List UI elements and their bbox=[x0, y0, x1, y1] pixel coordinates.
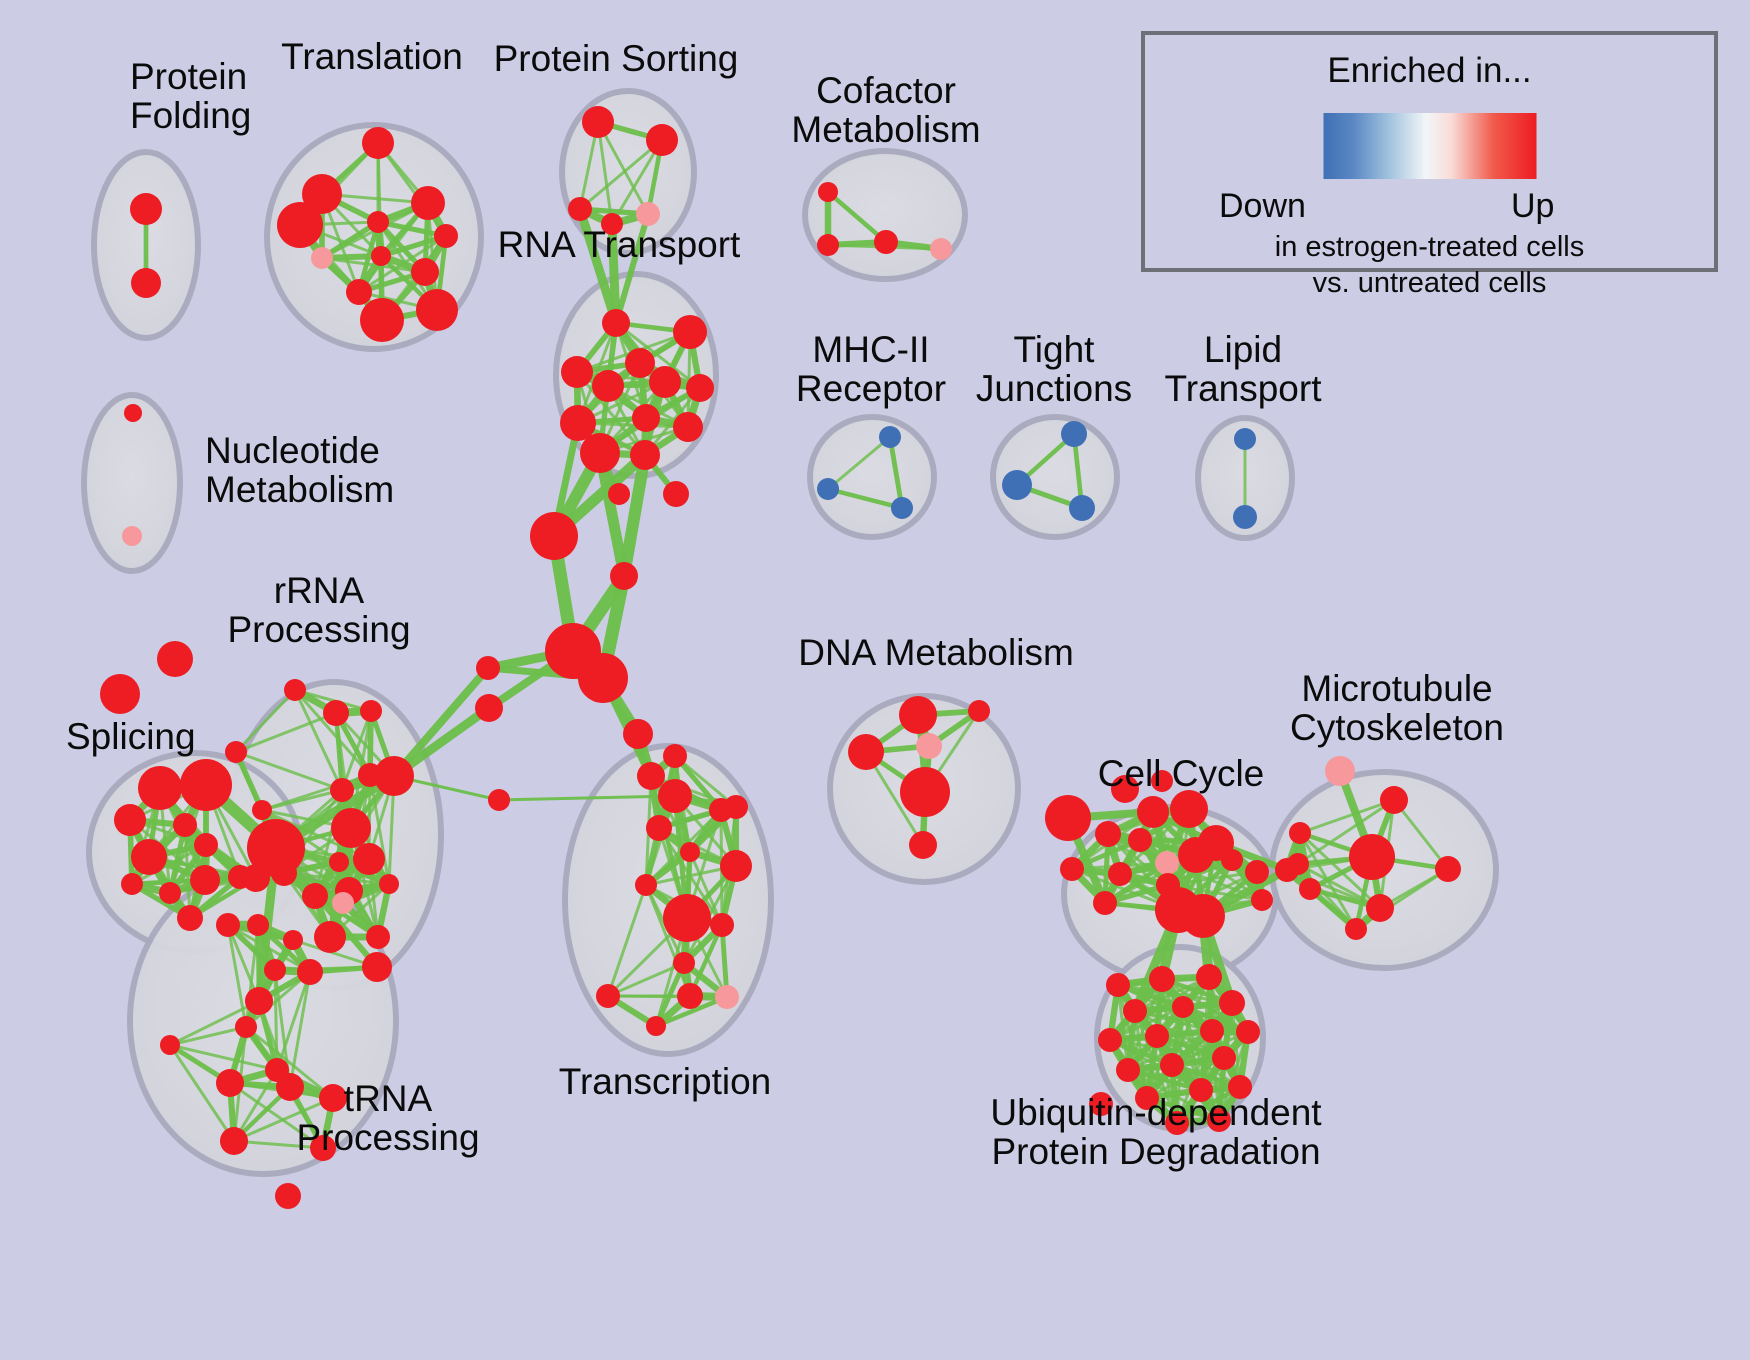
network-node[interactable] bbox=[724, 795, 748, 819]
legend-color-bar bbox=[1323, 113, 1536, 179]
network-node[interactable] bbox=[1200, 1019, 1224, 1043]
cluster-label-splicing: Splicing bbox=[66, 718, 196, 757]
network-node[interactable] bbox=[242, 864, 270, 892]
network-figure: Protein FoldingTranslationNucleotide Met… bbox=[0, 0, 1750, 1360]
network-node[interactable] bbox=[252, 800, 272, 820]
network-node[interactable] bbox=[673, 315, 707, 349]
network-node[interactable] bbox=[1069, 495, 1095, 521]
network-node[interactable] bbox=[1093, 891, 1117, 915]
network-node[interactable] bbox=[1245, 860, 1269, 884]
network-node[interactable] bbox=[630, 440, 660, 470]
network-node[interactable] bbox=[159, 882, 181, 904]
network-node[interactable] bbox=[646, 124, 678, 156]
network-node[interactable] bbox=[916, 733, 942, 759]
network-node[interactable] bbox=[194, 833, 218, 857]
network-node[interactable] bbox=[1181, 894, 1225, 938]
network-node[interactable] bbox=[225, 741, 247, 763]
network-node[interactable] bbox=[265, 1058, 289, 1082]
network-node[interactable] bbox=[592, 370, 624, 402]
network-node[interactable] bbox=[173, 813, 197, 837]
network-node[interactable] bbox=[663, 744, 687, 768]
network-node[interactable] bbox=[1045, 795, 1091, 841]
network-node[interactable] bbox=[1178, 837, 1214, 873]
network-node[interactable] bbox=[1160, 1053, 1184, 1077]
network-node[interactable] bbox=[848, 734, 884, 770]
legend-low-label: Down bbox=[1219, 187, 1306, 226]
network-node[interactable] bbox=[578, 653, 628, 703]
network-node[interactable] bbox=[190, 865, 220, 895]
network-node[interactable] bbox=[1236, 1020, 1260, 1044]
network-node[interactable] bbox=[663, 894, 711, 942]
network-node[interactable] bbox=[1170, 790, 1208, 828]
network-node[interactable] bbox=[346, 279, 372, 305]
network-node[interactable] bbox=[879, 426, 901, 448]
network-node[interactable] bbox=[1145, 1024, 1169, 1048]
network-node[interactable] bbox=[360, 700, 382, 722]
legend-panel: Enriched in... Down Up in estrogen-treat… bbox=[1141, 31, 1718, 272]
network-node[interactable] bbox=[710, 913, 734, 937]
cluster-label-rrna-processing: rRNA Processing bbox=[227, 572, 410, 650]
network-node[interactable] bbox=[1123, 999, 1147, 1023]
network-node[interactable] bbox=[1299, 878, 1321, 900]
network-node[interactable] bbox=[1106, 973, 1130, 997]
cluster-label-microtubule-cytoskeleton: Microtubule Cytoskeleton bbox=[1290, 670, 1504, 748]
network-node[interactable] bbox=[637, 762, 665, 790]
network-node[interactable] bbox=[177, 905, 203, 931]
network-node[interactable] bbox=[130, 193, 162, 225]
network-node[interactable] bbox=[275, 1183, 301, 1209]
cluster-label-mhc-ii-receptor: MHC-II Receptor bbox=[796, 331, 946, 409]
network-node[interactable] bbox=[1345, 918, 1367, 940]
network-node[interactable] bbox=[891, 497, 913, 519]
legend-title: Enriched in... bbox=[1145, 51, 1714, 91]
network-node[interactable] bbox=[371, 246, 391, 266]
network-node[interactable] bbox=[1234, 428, 1256, 450]
network-node[interactable] bbox=[157, 641, 193, 677]
network-node[interactable] bbox=[625, 348, 655, 378]
legend-high-label: Up bbox=[1511, 187, 1554, 226]
network-node[interactable] bbox=[680, 842, 700, 862]
network-node[interactable] bbox=[283, 930, 303, 950]
network-node[interactable] bbox=[411, 258, 439, 286]
cluster-ellipse-mhc-ii-receptor bbox=[810, 417, 934, 537]
network-node[interactable] bbox=[1060, 857, 1084, 881]
network-node[interactable] bbox=[602, 309, 630, 337]
network-node[interactable] bbox=[122, 526, 142, 546]
network-node[interactable] bbox=[264, 959, 286, 981]
network-node[interactable] bbox=[1108, 862, 1132, 886]
legend-subtitle-line1: in estrogen-treated cells bbox=[1145, 231, 1714, 264]
network-node[interactable] bbox=[277, 202, 323, 248]
network-node[interactable] bbox=[235, 1016, 257, 1038]
network-node[interactable] bbox=[1325, 756, 1355, 786]
network-node[interactable] bbox=[476, 656, 500, 680]
network-node[interactable] bbox=[580, 433, 620, 473]
network-node[interactable] bbox=[1233, 505, 1257, 529]
network-node[interactable] bbox=[1095, 821, 1121, 847]
cluster-label-nucleotide-metabolism: Nucleotide Metabolism bbox=[205, 432, 394, 510]
network-node[interactable] bbox=[1435, 856, 1461, 882]
network-node[interactable] bbox=[1116, 1058, 1140, 1082]
network-node[interactable] bbox=[434, 224, 458, 248]
network-node[interactable] bbox=[673, 952, 695, 974]
legend-subtitle-line2: vs. untreated cells bbox=[1145, 267, 1714, 300]
network-node[interactable] bbox=[180, 759, 232, 811]
cluster-label-dna-metabolism: DNA Metabolism bbox=[798, 634, 1074, 673]
network-node[interactable] bbox=[1098, 1028, 1122, 1052]
network-node[interactable] bbox=[632, 404, 660, 432]
network-node[interactable] bbox=[362, 952, 392, 982]
network-node[interactable] bbox=[1251, 889, 1273, 911]
network-node[interactable] bbox=[366, 925, 390, 949]
network-node[interactable] bbox=[297, 959, 323, 985]
network-node[interactable] bbox=[623, 719, 653, 749]
network-node[interactable] bbox=[968, 700, 990, 722]
network-node[interactable] bbox=[1349, 834, 1395, 880]
network-node[interactable] bbox=[329, 852, 349, 872]
cluster-label-protein-folding: Protein Folding bbox=[130, 58, 251, 136]
network-node[interactable] bbox=[302, 883, 328, 909]
network-node[interactable] bbox=[561, 356, 593, 388]
network-node[interactable] bbox=[1061, 421, 1087, 447]
network-node[interactable] bbox=[1380, 786, 1408, 814]
network-node[interactable] bbox=[411, 186, 445, 220]
network-node[interactable] bbox=[1219, 990, 1245, 1016]
cluster-label-cell-cycle: Cell Cycle bbox=[1098, 755, 1265, 794]
network-node[interactable] bbox=[247, 914, 269, 936]
network-node[interactable] bbox=[930, 238, 952, 260]
network-node[interactable] bbox=[360, 298, 404, 342]
network-node[interactable] bbox=[1287, 853, 1309, 875]
network-node[interactable] bbox=[138, 766, 182, 810]
network-node[interactable] bbox=[332, 892, 354, 914]
network-node[interactable] bbox=[900, 767, 950, 817]
network-node[interactable] bbox=[817, 478, 839, 500]
network-node[interactable] bbox=[367, 211, 389, 233]
network-node[interactable] bbox=[720, 850, 752, 882]
network-node[interactable] bbox=[596, 984, 620, 1008]
network-node[interactable] bbox=[1289, 822, 1311, 844]
network-node[interactable] bbox=[216, 913, 240, 937]
cluster-label-protein-sorting: Protein Sorting bbox=[494, 40, 739, 79]
cluster-label-trna-processing: tRNA Processing bbox=[296, 1080, 479, 1158]
cluster-label-lipid-transport: Lipid Transport bbox=[1165, 331, 1322, 409]
network-node[interactable] bbox=[121, 873, 143, 895]
network-node[interactable] bbox=[330, 778, 354, 802]
network-node[interactable] bbox=[1366, 894, 1394, 922]
network-node[interactable] bbox=[610, 562, 638, 590]
network-node[interactable] bbox=[817, 234, 839, 256]
cluster-label-ubiquitin-protein-degradation: Ubiquitin-dependent Protein Degradation bbox=[990, 1094, 1321, 1172]
network-node[interactable] bbox=[715, 985, 739, 1009]
network-node[interactable] bbox=[646, 815, 672, 841]
network-node[interactable] bbox=[530, 512, 578, 560]
network-node[interactable] bbox=[1172, 996, 1194, 1018]
network-node[interactable] bbox=[646, 1016, 666, 1036]
cluster-label-cofactor-metabolism: Cofactor Metabolism bbox=[791, 72, 980, 150]
network-node[interactable] bbox=[899, 696, 937, 734]
network-node[interactable] bbox=[874, 230, 898, 254]
network-node[interactable] bbox=[1196, 964, 1222, 990]
network-node[interactable] bbox=[311, 247, 333, 269]
network-node[interactable] bbox=[131, 268, 161, 298]
cluster-label-translation: Translation bbox=[281, 38, 463, 77]
network-node[interactable] bbox=[582, 106, 614, 138]
network-node[interactable] bbox=[677, 983, 703, 1009]
network-node[interactable] bbox=[635, 874, 657, 896]
cluster-label-transcription: Transcription bbox=[559, 1063, 771, 1102]
network-node[interactable] bbox=[160, 1035, 180, 1055]
network-node[interactable] bbox=[649, 366, 681, 398]
network-node[interactable] bbox=[362, 127, 394, 159]
network-node[interactable] bbox=[100, 674, 140, 714]
network-node[interactable] bbox=[488, 789, 510, 811]
cluster-label-tight-junctions: Tight Junctions bbox=[976, 331, 1132, 409]
network-node[interactable] bbox=[818, 182, 838, 202]
network-node[interactable] bbox=[1128, 828, 1152, 852]
network-node[interactable] bbox=[1002, 470, 1032, 500]
network-node[interactable] bbox=[284, 679, 306, 701]
network-node[interactable] bbox=[323, 700, 349, 726]
network-node[interactable] bbox=[416, 289, 458, 331]
network-node[interactable] bbox=[1221, 849, 1243, 871]
network-node[interactable] bbox=[909, 831, 937, 859]
network-node[interactable] bbox=[636, 202, 660, 226]
network-node[interactable] bbox=[1149, 966, 1175, 992]
network-node[interactable] bbox=[673, 412, 703, 442]
cluster-label-rna-transport: RNA Transport bbox=[498, 226, 741, 265]
network-node[interactable] bbox=[220, 1127, 248, 1155]
network-node[interactable] bbox=[331, 808, 371, 848]
network-node[interactable] bbox=[663, 481, 689, 507]
network-node[interactable] bbox=[1155, 851, 1179, 875]
network-node[interactable] bbox=[314, 921, 346, 953]
network-node[interactable] bbox=[1212, 1046, 1236, 1070]
network-node[interactable] bbox=[686, 374, 714, 402]
network-node[interactable] bbox=[379, 874, 399, 894]
network-node[interactable] bbox=[475, 694, 503, 722]
network-node[interactable] bbox=[658, 779, 692, 813]
network-node[interactable] bbox=[114, 804, 146, 836]
network-node[interactable] bbox=[216, 1069, 244, 1097]
network-node[interactable] bbox=[608, 483, 630, 505]
network-node[interactable] bbox=[245, 987, 273, 1015]
network-node[interactable] bbox=[568, 197, 592, 221]
network-node[interactable] bbox=[1137, 796, 1169, 828]
network-node[interactable] bbox=[374, 756, 414, 796]
network-node[interactable] bbox=[124, 404, 142, 422]
network-node[interactable] bbox=[131, 839, 167, 875]
network-node[interactable] bbox=[353, 843, 385, 875]
